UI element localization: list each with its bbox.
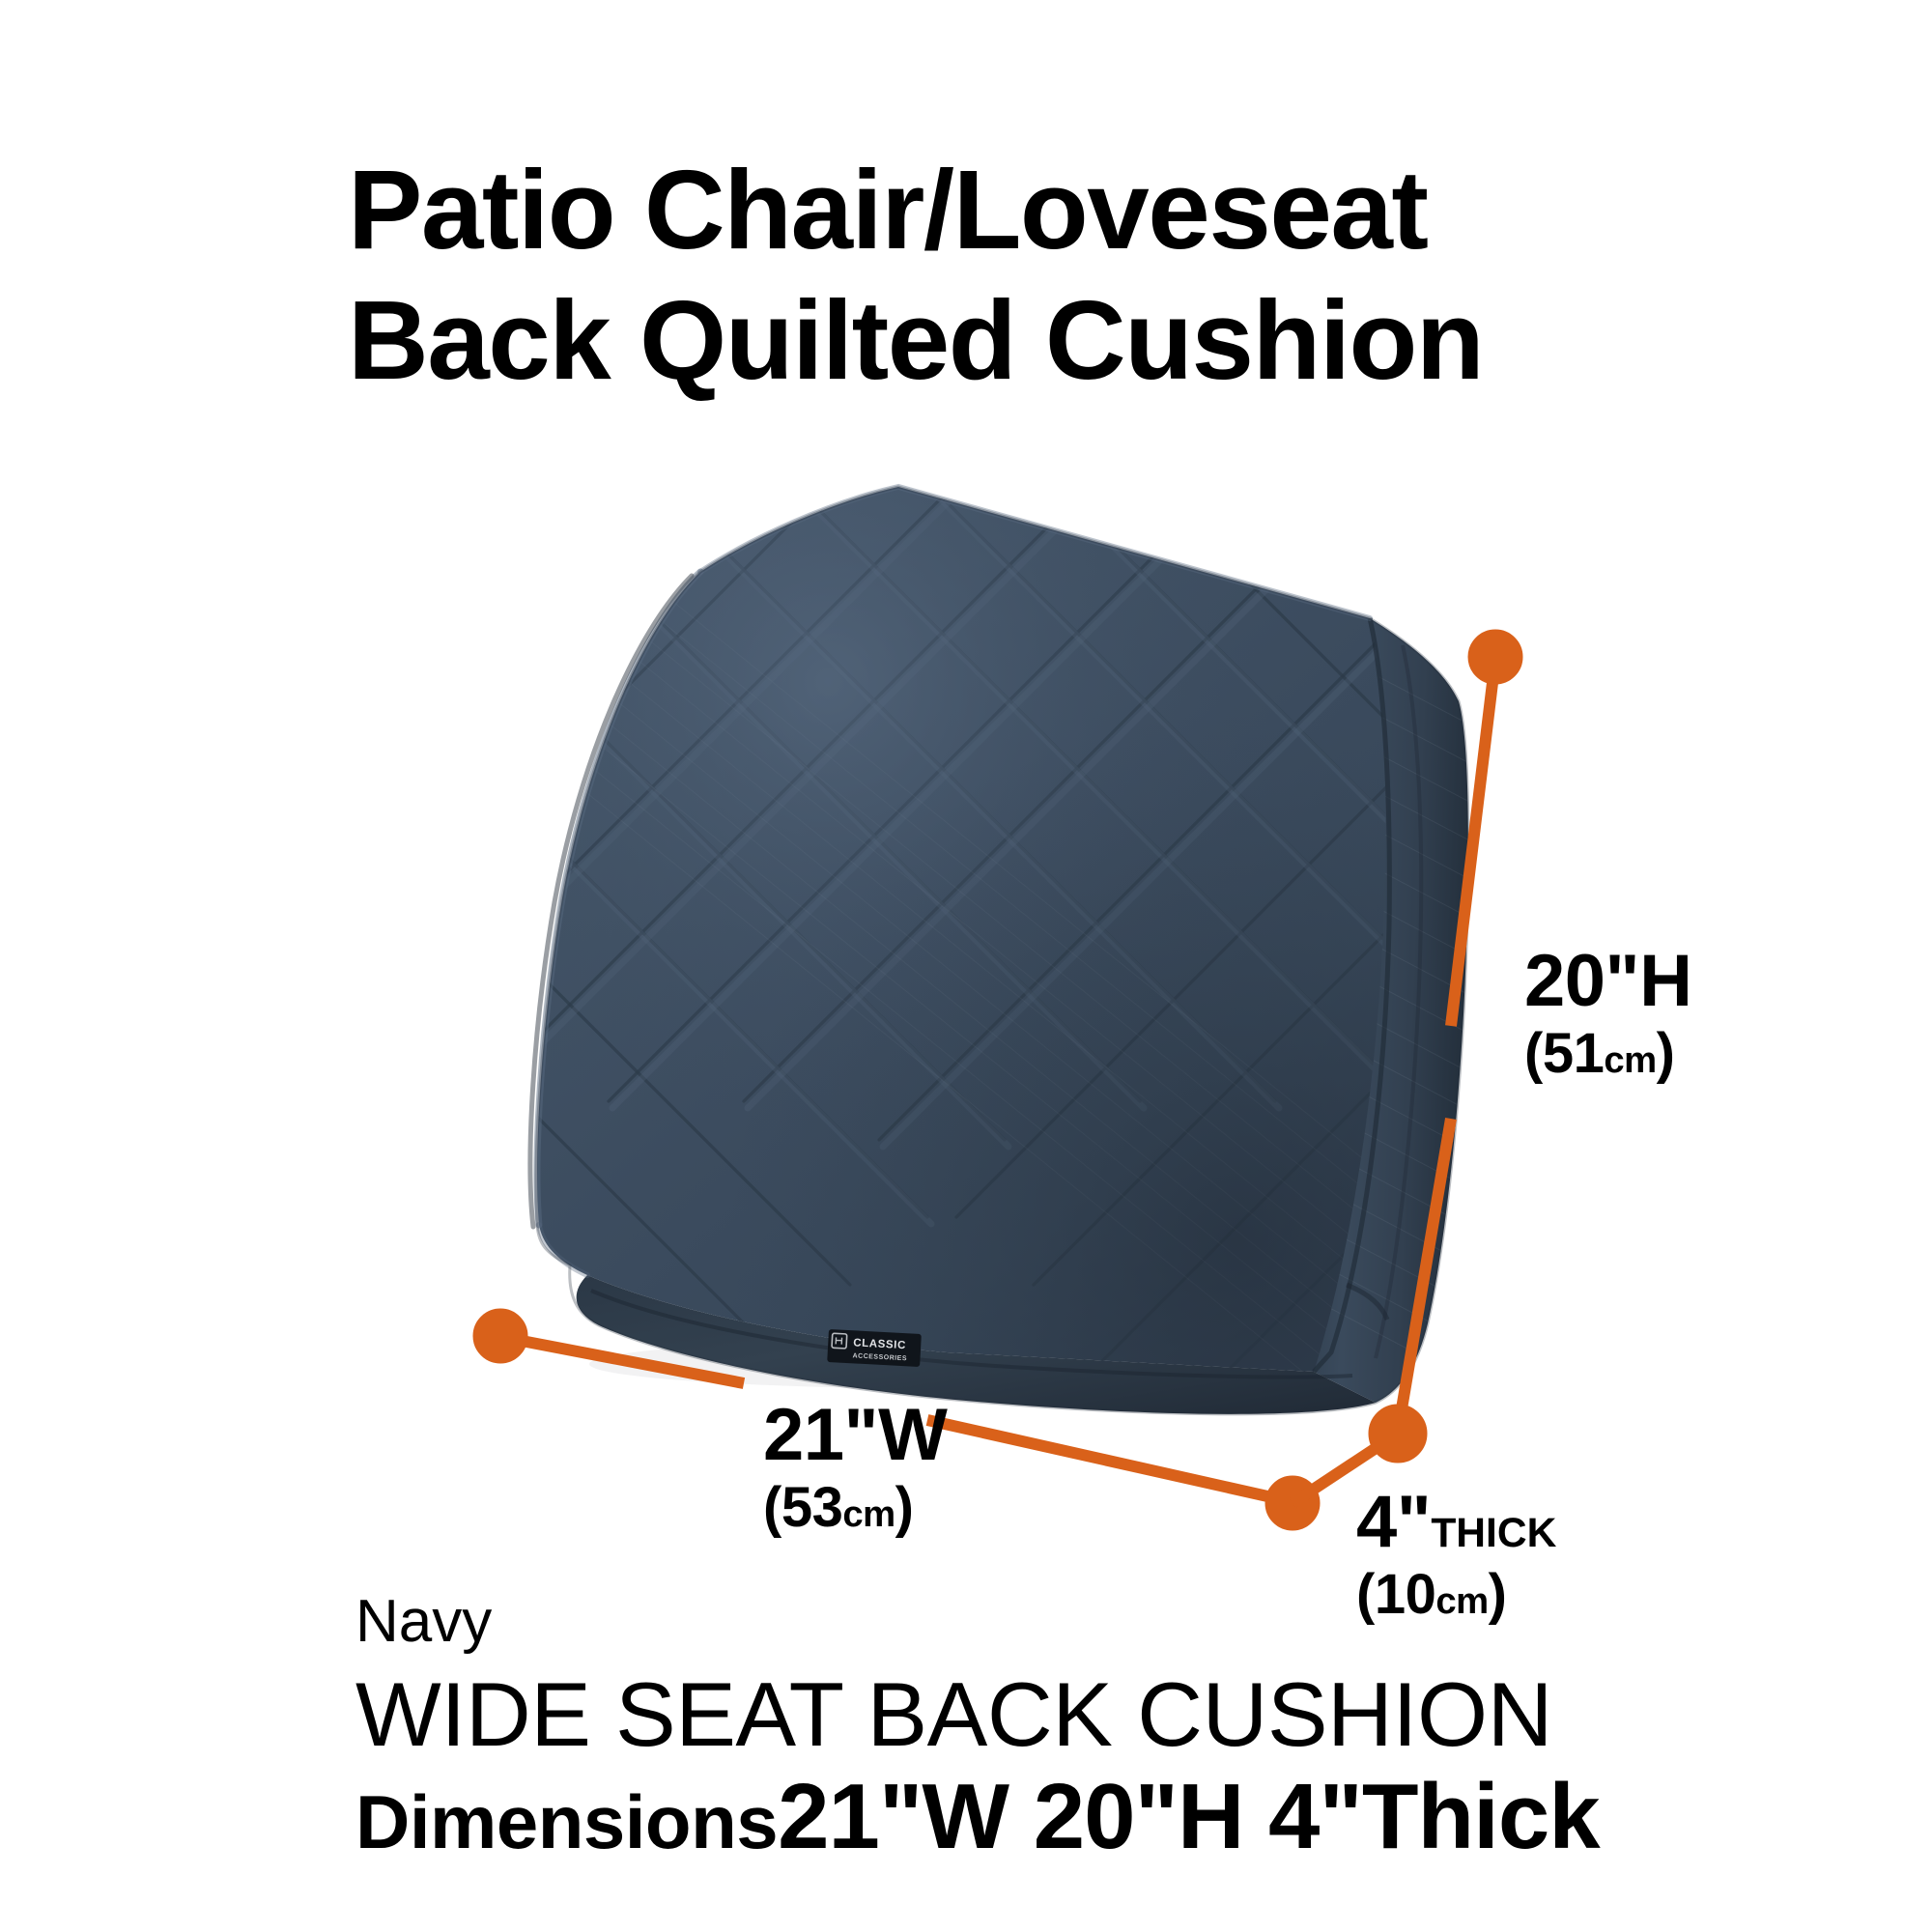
dimensions-summary-value: 21"W 20"H 4"Thick [778,1765,1600,1868]
page-title: Patio Chair/Loveseat Back Quilted Cushio… [348,145,1700,405]
thickness-word: THICK [1431,1510,1556,1556]
dimensions-summary-label: Dimensions [355,1779,778,1864]
height-dimension-line [1398,630,1522,1432]
caption-block: Navy WIDE SEAT BACK CUSHION Dimensions21… [355,1592,1804,1865]
height-metric-unit: cm [1604,1039,1656,1081]
thickness-marker [1369,1405,1427,1463]
height-metric: (51cm) [1524,1026,1691,1082]
height-metric-number: (51 [1524,1022,1604,1085]
cushion-piping [530,487,1468,1414]
height-top-marker [1468,630,1522,684]
svg-text:ACCESSORIES: ACCESSORIES [852,1352,907,1362]
quilt-stitching [232,290,1652,1449]
fabric-texture [502,464,1507,1459]
product-shadow [589,1339,1362,1389]
width-label: 21"W (53cm) [763,1399,947,1536]
thickness-value: 4" [1356,1481,1431,1563]
cushion-bottom-gusset [577,1275,1376,1414]
product-name: WIDE SEAT BACK CUSHION [355,1665,1804,1764]
thickness-value-row: 4"THICK [1356,1486,1556,1559]
height-label: 20"H (51cm) [1524,945,1691,1082]
svg-text:CLASSIC: CLASSIC [853,1337,906,1351]
product-info-graphic: Patio Chair/Loveseat Back Quilted Cushio… [0,0,1932,1932]
height-metric-close: ) [1657,1022,1675,1085]
dimension-callouts [473,630,1522,1530]
width-metric: (53cm) [763,1480,947,1536]
title-line-1: Patio Chair/Loveseat [348,145,1700,275]
width-metric-number: (53 [763,1476,842,1539]
brand-tag: CLASSIC ACCESSORIES [827,1329,922,1367]
title-line-2: Back Quilted Cushion [348,275,1700,406]
width-metric-unit: cm [842,1493,895,1535]
height-value: 20"H [1524,945,1691,1018]
width-value: 21"W [763,1399,947,1472]
dimensions-summary: Dimensions21"W 20"H 4"Thick [355,1768,1804,1866]
cushion-side-gusset [1304,618,1488,1403]
width-metric-close: ) [895,1476,914,1539]
width-left-marker [473,1309,527,1363]
width-right-marker [1265,1476,1320,1530]
color-name: Navy [355,1592,1804,1652]
quilt-puff-highlights [294,297,1540,1224]
cushion-front-face [232,290,1652,1459]
